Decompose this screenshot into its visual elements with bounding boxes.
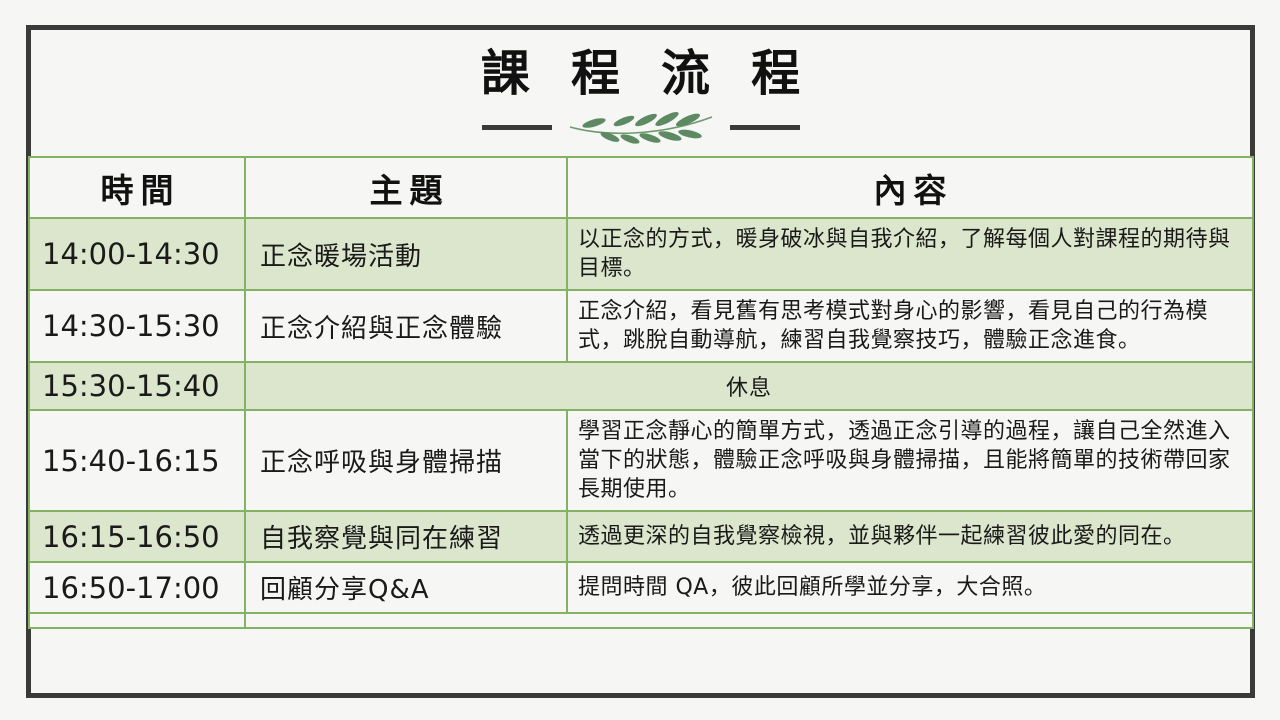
table-row: 16:50-17:00 回顧分享Q&A 提問時間 QA，彼此回顧所學並分享，大合… [29, 562, 1253, 613]
title-block: 課 程 流 程 [26, 25, 1255, 156]
cell-time: 16:15-16:50 [29, 511, 245, 562]
cell-content: 正念介紹，看見舊有思考模式對身心的影響，看見自己的行為模式，跳脫自動導航，練習自… [567, 290, 1253, 362]
table-header: 時間 主題 內容 [29, 157, 1253, 218]
cell-spacer-rest [245, 613, 1253, 628]
cell-time: 15:30-15:40 [29, 362, 245, 410]
page-title: 課 程 流 程 [469, 47, 812, 101]
table-header-row: 時間 主題 內容 [29, 157, 1253, 218]
table-row: 16:15-16:50 自我察覺與同在練習 透過更深的自我覺察檢視，並與夥伴一起… [29, 511, 1253, 562]
cell-topic: 正念呼吸與身體掃描 [245, 410, 567, 511]
cell-content: 提問時間 QA，彼此回顧所學並分享，大合照。 [567, 562, 1253, 613]
cell-topic: 正念暖場活動 [245, 218, 567, 290]
cell-topic: 自我察覺與同在練習 [245, 511, 567, 562]
cell-time: 14:00-14:30 [29, 218, 245, 290]
slide: 課 程 流 程 [0, 0, 1280, 720]
course-schedule-table: 時間 主題 內容 14:00-14:30 正念暖場活動 以正念的方式，暖身破冰與… [28, 156, 1254, 629]
olive-branch-icon [566, 111, 716, 145]
cell-topic: 回顧分享Q&A [245, 562, 567, 613]
divider-rule-left [482, 125, 552, 130]
cell-content: 以正念的方式，暖身破冰與自我介紹，了解每個人對課程的期待與目標。 [567, 218, 1253, 290]
cell-topic: 正念介紹與正念體驗 [245, 290, 567, 362]
title-divider [471, 111, 811, 145]
table-body: 14:00-14:30 正念暖場活動 以正念的方式，暖身破冰與自我介紹，了解每個… [29, 218, 1253, 628]
cell-spacer-time [29, 613, 245, 628]
table-row-break: 15:30-15:40 休息 [29, 362, 1253, 410]
table-row-spacer [29, 613, 1253, 628]
cell-time: 15:40-16:15 [29, 410, 245, 511]
column-header-time: 時間 [29, 157, 245, 218]
table-row: 14:30-15:30 正念介紹與正念體驗 正念介紹，看見舊有思考模式對身心的影… [29, 290, 1253, 362]
cell-break-label: 休息 [245, 362, 1253, 410]
table-row: 15:40-16:15 正念呼吸與身體掃描 學習正念靜心的簡單方式，透過正念引導… [29, 410, 1253, 511]
cell-time: 14:30-15:30 [29, 290, 245, 362]
cell-time: 16:50-17:00 [29, 562, 245, 613]
column-header-content: 內容 [567, 157, 1253, 218]
table-row: 14:00-14:30 正念暖場活動 以正念的方式，暖身破冰與自我介紹，了解每個… [29, 218, 1253, 290]
cell-content: 透過更深的自我覺察檢視，並與夥伴一起練習彼此愛的同在。 [567, 511, 1253, 562]
cell-content: 學習正念靜心的簡單方式，透過正念引導的過程，讓自己全然進入當下的狀態，體驗正念呼… [567, 410, 1253, 511]
divider-rule-right [730, 125, 800, 130]
column-header-topic: 主題 [245, 157, 567, 218]
